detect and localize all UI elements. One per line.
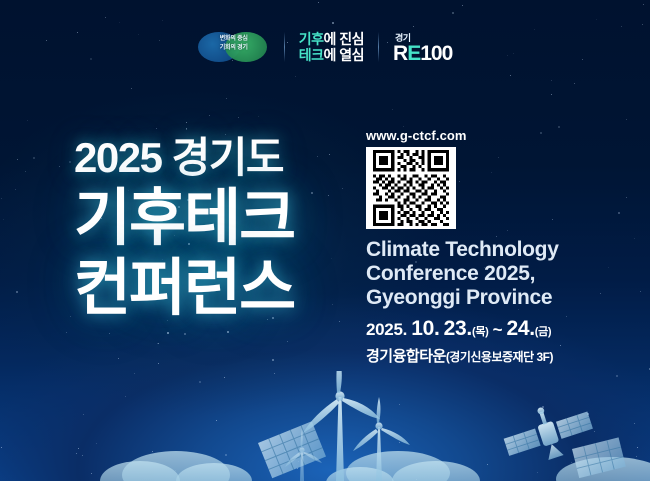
info-column: www.g-ctcf.com	[366, 128, 631, 366]
date-day-start: 23.	[444, 317, 472, 340]
star-dot	[15, 189, 16, 190]
english-title-line-2: Conference 2025,	[366, 262, 631, 286]
headline-year: 2025 경기도	[74, 132, 374, 184]
campaign-slogan: 기후에 진심 테크에 열심	[299, 32, 364, 63]
renewable-energy-illustration	[0, 371, 650, 481]
star-dot	[17, 159, 18, 160]
date-range-separator: ~	[493, 320, 503, 339]
star-dot	[27, 120, 28, 121]
date-day-end: 24.	[506, 317, 534, 340]
slogan-line-2: 테크에 열심	[299, 48, 364, 63]
headline-line-2: 컨퍼런스	[74, 254, 374, 324]
star-dot	[643, 4, 644, 5]
star-dot	[25, 171, 26, 172]
star-dot	[186, 129, 187, 130]
event-date: 2025. 10. 23.(목) ~ 24.(금)	[366, 317, 631, 341]
star-dot	[574, 83, 575, 84]
date-dow-start: (목)	[472, 326, 489, 338]
header-divider-2	[378, 32, 379, 62]
star-dot	[16, 291, 18, 293]
star-dot	[295, 76, 296, 77]
conference-poster: 변화의 중심 기회의 경기 기후에 진심 테크에 열심 경기 RE100 202…	[0, 0, 650, 481]
star-dot	[640, 291, 641, 292]
venue-name: 경기융합타운	[366, 348, 446, 365]
star-dot	[70, 316, 71, 317]
slogan-line-2-accent: 테크	[299, 47, 324, 63]
solar-panel-left	[258, 421, 326, 478]
star-dot	[1, 198, 2, 199]
qr-code[interactable]	[366, 147, 456, 229]
emblem-text: 변화의 중심 기회의 경기	[198, 35, 270, 53]
star-dot	[551, 80, 552, 81]
star-dot	[156, 128, 157, 129]
star-dot	[403, 126, 404, 127]
date-year: 2025.	[366, 320, 407, 339]
website-url[interactable]: www.g-ctcf.com	[366, 128, 631, 143]
star-dot	[158, 343, 159, 344]
star-dot	[452, 12, 454, 14]
star-dot	[227, 331, 229, 333]
slogan-line-1-accent: 기후	[299, 31, 324, 47]
slogan-line-2-rest: 에 열심	[324, 47, 365, 63]
star-dot	[167, 332, 169, 334]
english-title-line-1: Climate Technology	[366, 238, 631, 262]
star-dot	[626, 119, 627, 120]
star-dot	[238, 117, 239, 118]
star-dot	[157, 343, 158, 344]
star-dot	[318, 2, 319, 3]
star-dot	[462, 5, 463, 6]
star-dot	[287, 341, 288, 342]
cloud-shapes	[100, 451, 650, 481]
star-dot	[105, 17, 106, 18]
star-dot	[634, 238, 635, 239]
re100-letter-e: E	[407, 42, 420, 65]
star-dot	[59, 166, 60, 167]
star-dot	[131, 88, 132, 89]
star-dot	[510, 75, 511, 76]
star-dot	[69, 161, 71, 163]
gyeonggi-province-emblem: 변화의 중심 기회의 경기	[198, 30, 270, 64]
star-dot	[162, 20, 163, 21]
emblem-line-1: 변화의 중심	[198, 35, 270, 44]
english-title: Climate Technology Conference 2025, Gyeo…	[366, 238, 631, 310]
re100-digits: 100	[420, 42, 452, 65]
date-month: 10.	[411, 317, 439, 340]
star-dot	[109, 333, 110, 334]
re100-mark: RE100	[393, 44, 452, 64]
star-dot	[66, 332, 67, 333]
venue-detail: (경기신용보증재단 3F)	[446, 350, 553, 364]
star-dot	[392, 109, 393, 110]
star-dot	[186, 122, 187, 123]
event-venue: 경기융합타운(경기신용보증재단 3F)	[366, 345, 631, 366]
gyeonggi-re100-logo: 경기 RE100	[393, 31, 452, 64]
star-dot	[272, 359, 274, 361]
qr-code-image	[369, 150, 453, 226]
star-dot	[186, 128, 187, 129]
star-dot	[33, 157, 35, 159]
emblem-line-2: 기회의 경기	[198, 44, 270, 53]
header-divider-1	[284, 32, 285, 62]
star-dot	[158, 363, 159, 364]
star-dot	[258, 116, 259, 117]
poster-headline: 2025 경기도 기후테크 컨퍼런스	[74, 132, 374, 324]
headline-line-1: 기후테크	[74, 184, 374, 254]
star-dot	[551, 94, 552, 95]
star-dot	[596, 19, 597, 20]
header-logo-bar: 변화의 중심 기회의 경기 기후에 진심 테크에 열심 경기 RE100	[0, 24, 650, 70]
slogan-line-1: 기후에 진심	[299, 32, 364, 47]
re100-letter-r: R	[393, 42, 407, 65]
star-dot	[209, 115, 210, 116]
date-dow-end: (금)	[535, 326, 552, 338]
star-dot	[226, 98, 227, 99]
star-dot	[184, 333, 186, 335]
english-title-line-3: Gyeonggi Province	[366, 286, 631, 310]
star-dot	[118, 358, 119, 359]
slogan-line-1-rest: 에 진심	[324, 31, 365, 47]
star-dot	[3, 219, 4, 220]
